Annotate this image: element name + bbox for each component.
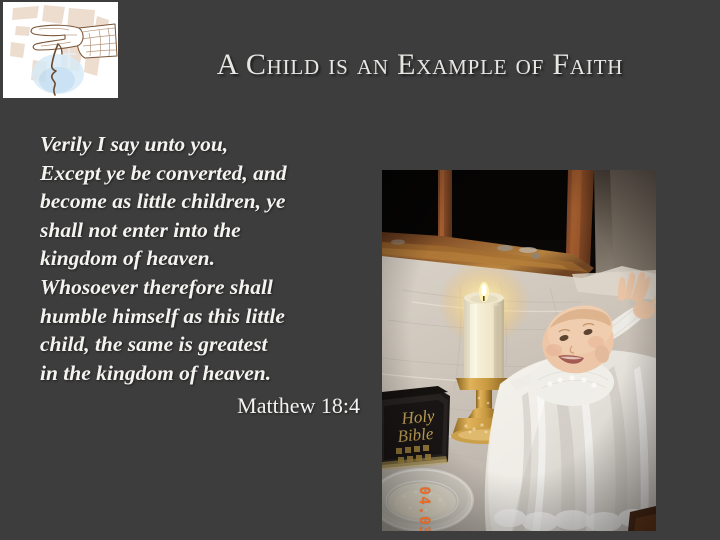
- photo-date-stamp: 04.03.2009: [416, 476, 432, 531]
- quote-line: child, the same is greatest: [40, 330, 365, 359]
- quote-line: Whosoever therefore shall: [40, 273, 365, 302]
- quote-line: in the kingdom of heaven.: [40, 359, 365, 388]
- scripture-citation: Matthew 18:4: [40, 393, 360, 419]
- quote-line: Except ye be converted, and: [40, 159, 365, 188]
- quote-line: shall not enter into the: [40, 216, 365, 245]
- quote-line: humble himself as this little: [40, 302, 365, 331]
- quote-line: kingdom of heaven.: [40, 244, 365, 273]
- photo-date-stamp-container: 04.03.2009: [386, 422, 416, 531]
- christening-photo: Holy Bible: [382, 170, 656, 531]
- hand-blessing-child-icon: [3, 2, 118, 98]
- quote-line: Verily I say unto you,: [40, 130, 365, 159]
- presentation-slide: A Child is an Example of Faith Verily I …: [0, 0, 720, 540]
- slide-title: A Child is an Example of Faith: [140, 48, 700, 82]
- hand-blessing-child-logo: [3, 2, 118, 98]
- quote-line: become as little children, ye: [40, 187, 365, 216]
- scripture-quote: Verily I say unto you, Except ye be conv…: [40, 130, 365, 387]
